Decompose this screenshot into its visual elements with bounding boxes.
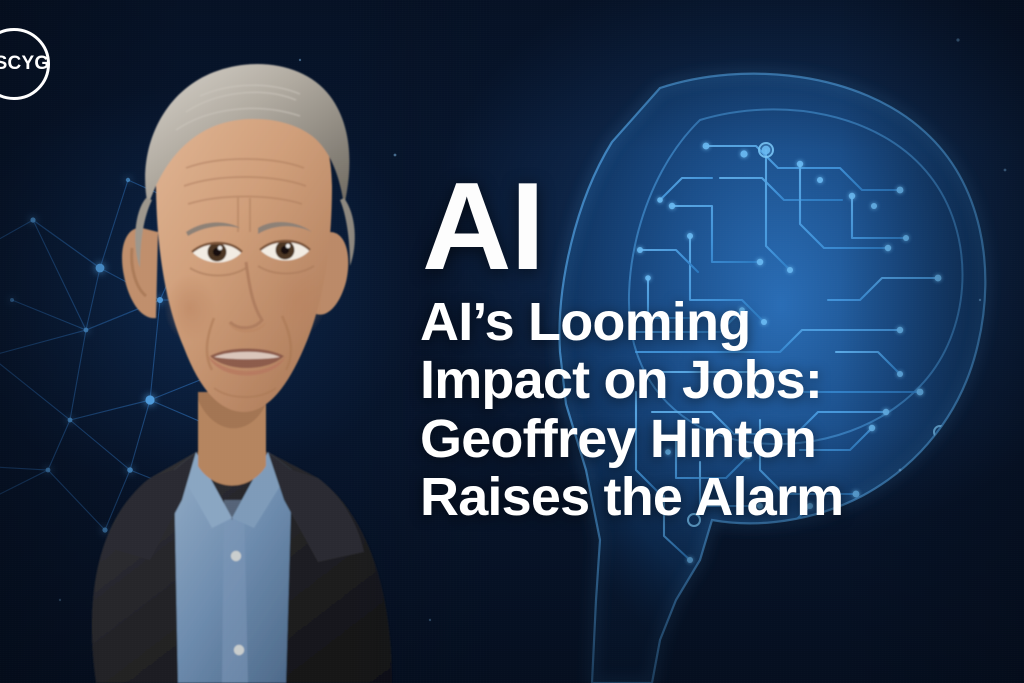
brand-logo[interactable]: SCYG <box>0 28 50 100</box>
headline-line-3: Geoffrey Hinton <box>420 410 980 468</box>
headline-line-4: Raises the Alarm <box>420 468 980 526</box>
headline-line-2: Impact on Jobs: <box>420 351 980 409</box>
headline: AI’s Looming Impact on Jobs: Geoffrey Hi… <box>420 293 980 526</box>
headline-line-1: AI’s Looming <box>420 293 980 351</box>
title-block: AI AI’s Looming Impact on Jobs: Geoffrey… <box>420 168 980 526</box>
thumbnail-canvas: AI AI’s Looming Impact on Jobs: Geoffrey… <box>0 0 1024 683</box>
brand-logo-text: SCYG <box>0 28 50 100</box>
kicker-text: AI <box>422 168 980 287</box>
